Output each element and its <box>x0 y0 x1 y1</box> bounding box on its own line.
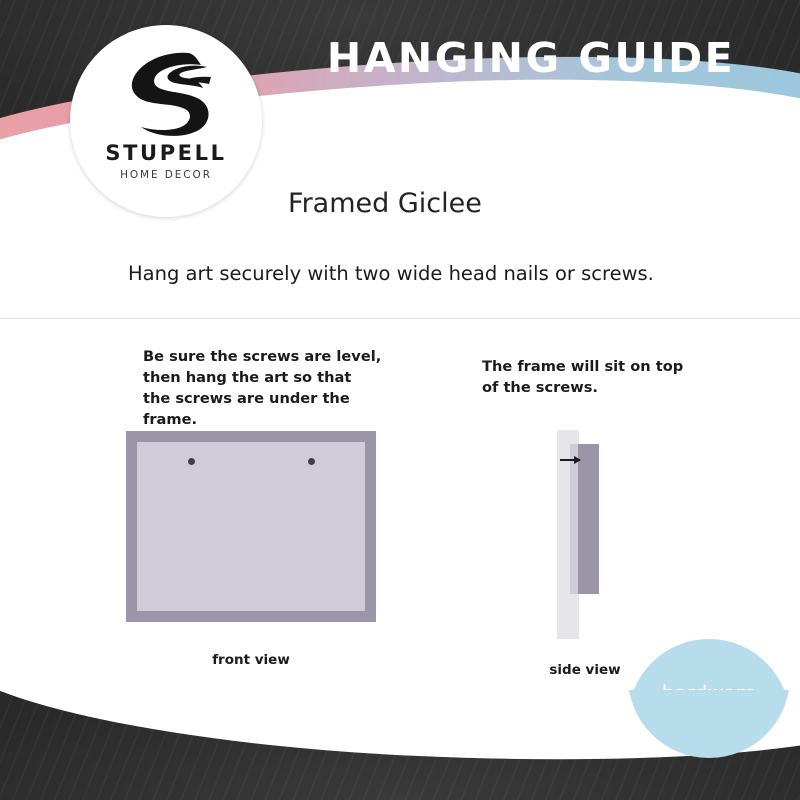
section-divider <box>0 318 800 319</box>
hanging-guide-page: HANGING GUIDE STUPELL HOME DECOR Framed … <box>0 0 800 800</box>
stupell-swan-logo-icon <box>111 47 221 139</box>
page-title: HANGING GUIDE <box>296 34 766 82</box>
logo-badge: STUPELL HOME DECOR <box>70 25 262 217</box>
front-view-frame-diagram <box>126 431 376 622</box>
side-view-frame-body <box>577 444 599 594</box>
bottom-banner <box>0 690 800 800</box>
product-type-heading: Framed Giclee <box>288 188 748 219</box>
front-view-frame-inner <box>137 442 365 611</box>
main-instruction-text: Hang art securely with two wide head nai… <box>128 262 728 285</box>
nail-arrow-icon <box>560 459 580 461</box>
logo-brand-name: STUPELL <box>105 141 226 165</box>
side-view-caption: The frame will sit on top of the screws. <box>482 356 692 398</box>
side-view-frame-face <box>570 444 578 594</box>
screw-dot-right-icon <box>308 458 315 465</box>
screw-dot-left-icon <box>188 458 195 465</box>
logo-brand-subtitle: HOME DECOR <box>120 169 212 181</box>
front-view-label: front view <box>126 652 376 668</box>
front-view-caption: Be sure the screws are level, then hang … <box>143 346 383 431</box>
